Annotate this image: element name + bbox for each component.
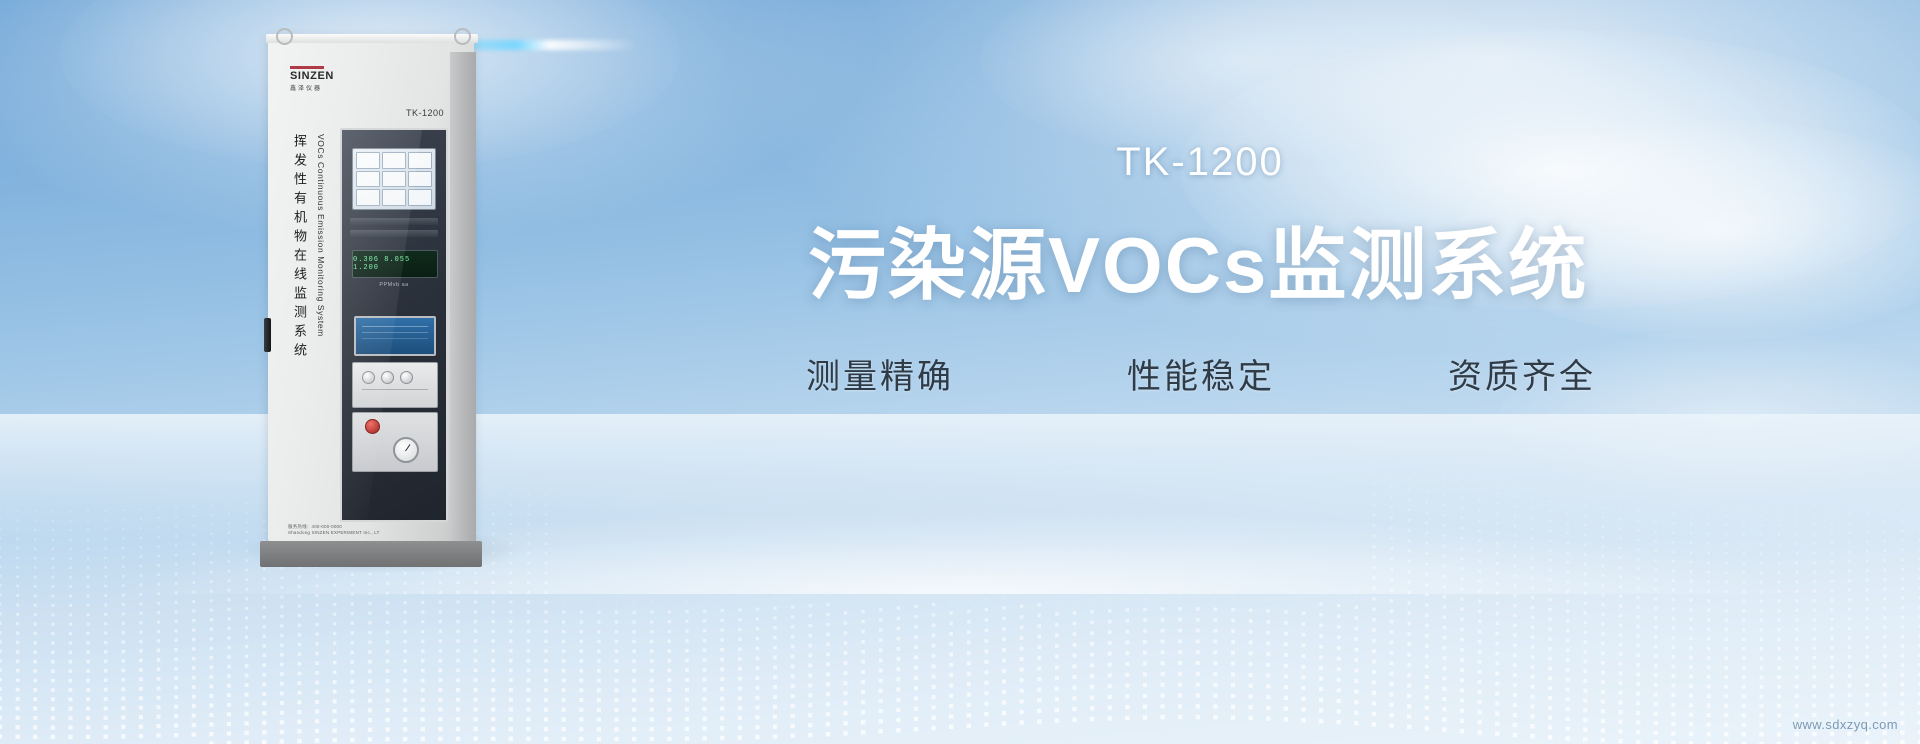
- cabinet-vertical-cn-text: 挥发性有机物在线监测系统: [290, 134, 308, 362]
- site-watermark: www.sdxzyq.com: [1793, 717, 1898, 732]
- instrument-window: 0.306 8.055 1.200 PPMvb aa: [340, 128, 448, 522]
- control-panel-lower: [352, 412, 438, 472]
- feature-item-1: 测量精确: [806, 349, 954, 398]
- cabinet-footer-line2: Shandong SINZEN EXPERIMENT Inc., LT: [288, 530, 438, 536]
- emergency-stop-icon: [365, 419, 380, 434]
- hmi-touch-screen: [352, 148, 436, 210]
- brand-name-cn: 鑫泽仪器: [290, 83, 364, 92]
- page-title: 污染源VOCs监测系统: [808, 203, 1588, 315]
- lcd-sublabel: PPMvb aa: [352, 282, 436, 288]
- cloud-decoration: [980, 0, 1500, 160]
- knob-icon: [400, 371, 413, 384]
- logo-accent-bar: [290, 66, 324, 69]
- product-banner: SINZEN 鑫泽仪器 TK-1200 挥发性有机物在线监测系统 VOCs Co…: [0, 0, 1920, 744]
- product-cabinet: SINZEN 鑫泽仪器 TK-1200 挥发性有机物在线监测系统 VOCs Co…: [268, 22, 488, 567]
- hmi-cell: [408, 152, 432, 169]
- cabinet-side-panel: [450, 52, 476, 553]
- module-strip: [350, 218, 438, 225]
- cabinet-brand-logo: SINZEN 鑫泽仪器: [290, 66, 364, 92]
- lcd-readout-green: 0.306 8.055 1.200: [352, 250, 438, 278]
- hmi-cell: [382, 152, 406, 169]
- panel-divider: [362, 389, 428, 390]
- feature-item-3: 资质齐全: [1448, 349, 1596, 398]
- feature-item-2: 性能稳定: [1127, 349, 1275, 398]
- cabinet-door-handle: [264, 318, 271, 352]
- cabinet-model-label: TK-1200: [406, 108, 444, 118]
- cabinet-body: SINZEN 鑫泽仪器 TK-1200 挥发性有机物在线监测系统 VOCs Co…: [268, 36, 474, 541]
- cabinet-vertical-en-text: VOCs Continuous Emission Monitoring Syst…: [316, 134, 326, 337]
- pressure-gauge-icon: [393, 437, 419, 463]
- lifting-eyebolt-icon: [454, 28, 471, 45]
- hmi-cell: [382, 189, 406, 206]
- cabinet-footer-text: 服务热线：400-000-0000 Shandong SINZEN EXPERI…: [288, 524, 438, 536]
- hmi-cell: [356, 189, 380, 206]
- knob-icon: [381, 371, 394, 384]
- control-panel-middle: [352, 362, 438, 408]
- product-model-heading: TK-1200: [820, 140, 1580, 185]
- hmi-cell: [408, 171, 432, 188]
- lifting-eyebolt-icon: [276, 28, 293, 45]
- marketing-text-block: TK-1200 污染源VOCs监测系统 测量精确 性能稳定 资质齐全: [690, 140, 1750, 398]
- module-strip: [350, 230, 438, 237]
- hmi-cell: [356, 171, 380, 188]
- lcd-panel-blue: [354, 316, 436, 356]
- cabinet-top-cap: [266, 34, 478, 43]
- knob-icon: [362, 371, 375, 384]
- hmi-cell: [408, 189, 432, 206]
- feature-list: 测量精确 性能稳定 资质齐全: [806, 349, 1596, 398]
- brand-name: SINZEN: [290, 71, 364, 82]
- hmi-cell: [382, 171, 406, 188]
- cabinet-base: [260, 541, 482, 567]
- hmi-cell: [356, 152, 380, 169]
